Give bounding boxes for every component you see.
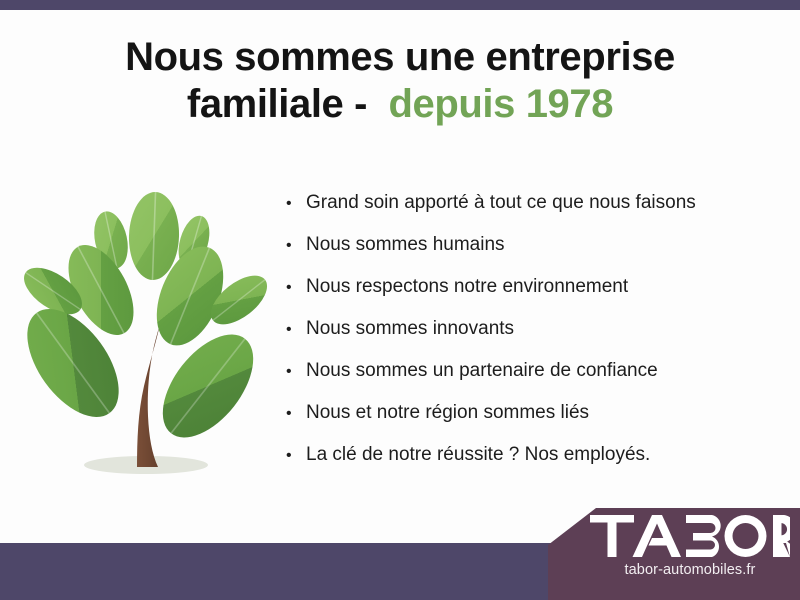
title-dash-glyph: - — [354, 82, 367, 126]
list-item-label: Grand soin apporté à tout ce que nous fa… — [306, 192, 696, 214]
title-line-2: familiale - depuis 1978 — [0, 81, 800, 128]
bullet-list: • Grand soin apporté à tout ce que nous … — [286, 192, 786, 486]
list-item-label: Nous sommes un partenaire de confiance — [306, 360, 658, 382]
title-line-1: Nous sommes une entreprise — [0, 34, 800, 81]
bullet-marker-icon: • — [286, 238, 306, 254]
bullet-marker-icon: • — [286, 280, 306, 296]
page-title: Nous sommes une entreprise familiale - d… — [0, 34, 800, 128]
list-item: • Nous sommes innovants — [286, 318, 786, 360]
list-item-label: Nous sommes innovants — [306, 318, 514, 340]
slide-canvas: Nous sommes une entreprise familiale - d… — [0, 0, 800, 600]
list-item: • Nous et notre région sommes liés — [286, 402, 786, 444]
logo-plate[interactable]: tabor-automobiles.fr — [548, 505, 800, 600]
title-accent-text: depuis 1978 — [388, 82, 613, 126]
bullet-marker-icon: • — [286, 322, 306, 338]
list-item: • Nous respectons notre environnement — [286, 276, 786, 318]
list-item-label: Nous et notre région sommes liés — [306, 402, 589, 424]
list-item: • Nous sommes humains — [286, 234, 786, 276]
list-item: • Grand soin apporté à tout ce que nous … — [286, 192, 786, 234]
tree-illustration — [18, 178, 274, 484]
title-line-2-plain: familiale — [187, 82, 343, 126]
list-item-label: Nous sommes humains — [306, 234, 505, 256]
bullet-marker-icon: • — [286, 406, 306, 422]
title-dash — [343, 82, 354, 126]
list-item: • La clé de notre réussite ? Nos employé… — [286, 444, 786, 486]
list-item-label: La clé de notre réussite ? Nos employés. — [306, 444, 650, 466]
bullet-marker-icon: • — [286, 448, 306, 464]
list-item-label: Nous respectons notre environnement — [306, 276, 628, 298]
bullet-marker-icon: • — [286, 364, 306, 380]
bullet-marker-icon: • — [286, 196, 306, 212]
logo-plate-shape — [548, 508, 800, 600]
title-space — [367, 82, 388, 126]
top-accent-bar — [0, 0, 800, 10]
list-item: • Nous sommes un partenaire de confiance — [286, 360, 786, 402]
